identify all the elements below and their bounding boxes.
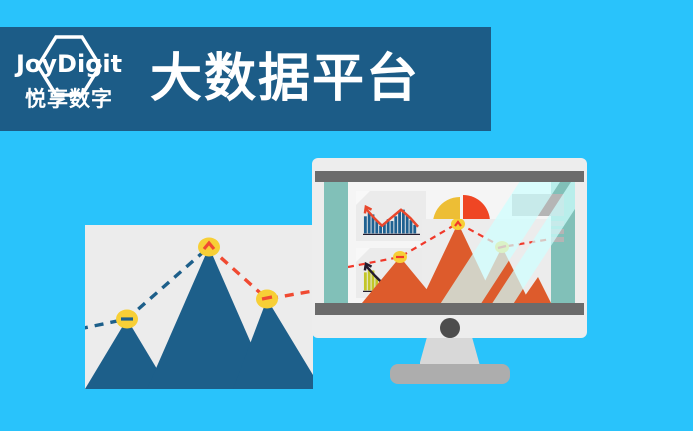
monitor-stand-base: [390, 364, 510, 384]
poster-canvas: JoyDigit 悦享数字 大数据平台: [0, 0, 693, 431]
logo-wordmark: JoyDigit: [16, 52, 122, 76]
left-mountain-chart: [85, 225, 313, 389]
monitor-screen: [324, 182, 575, 303]
left-chart-panel: [85, 225, 313, 389]
monitor-home-button[interactable]: [440, 318, 460, 338]
monitor-bottom-bar: [315, 303, 584, 315]
monitor-top-toolbar: [315, 171, 584, 182]
desktop-monitor: [312, 158, 587, 338]
marker-tick: [262, 297, 272, 299]
page-title: 大数据平台: [150, 53, 420, 105]
screen-side-panel-left: [324, 182, 348, 303]
header-banner: JoyDigit 悦享数字 大数据平台: [0, 27, 491, 131]
data-marker: [198, 238, 220, 257]
pie-slice-b: [463, 195, 490, 222]
brand-logo[interactable]: JoyDigit 悦享数字: [10, 31, 128, 127]
logo-subtitle: 悦享数字: [25, 89, 113, 110]
monitor-stand-neck: [420, 338, 480, 364]
